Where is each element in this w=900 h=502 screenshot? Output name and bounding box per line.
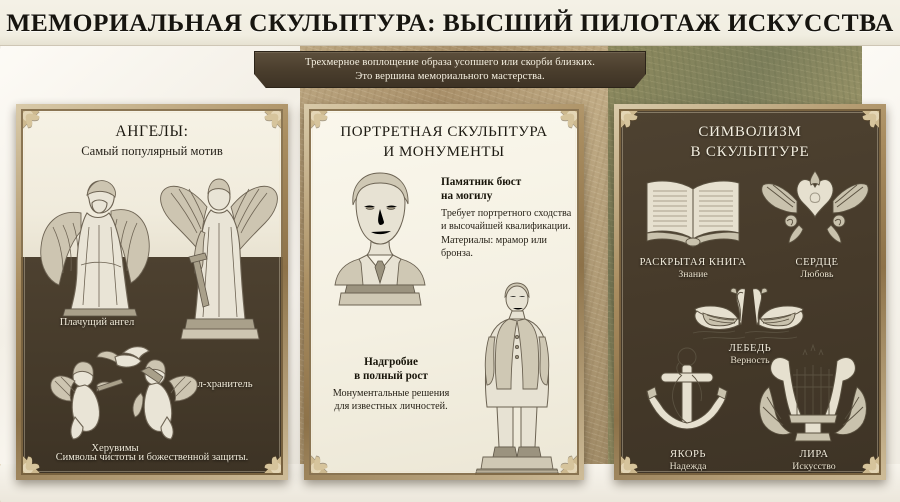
panel-symbolism-title-line-2: В СКУЛЬПТУРЕ (619, 143, 881, 161)
panel-portrait-content: ПОРТРЕТНАЯ СКУЛЬПТУРА И МОНУМЕНТЫ (309, 109, 579, 475)
open-book-icon (639, 175, 747, 249)
full-height-heading-line-1: Надгробие (321, 355, 461, 369)
symbol-label-lyre: ЛИРА Искусство (759, 449, 869, 472)
symbol-meaning-book: Знание (631, 269, 755, 280)
bust-heading-line-2: на могилу (441, 189, 573, 203)
symbol-label-book: РАСКРЫТАЯ КНИГА Знание (631, 257, 755, 280)
symbol-label-heart: СЕРДЦЕ Любовь (755, 257, 879, 280)
panel-angels-content: АНГЕЛЫ: Самый популярный мотив (21, 109, 283, 475)
panel-symbolism-title: СИМВОЛИЗМ В СКУЛЬПТУРЕ (619, 123, 881, 162)
full-height-description-line-2: для известных личностей. (321, 400, 461, 413)
bust-statue-icon (323, 167, 435, 307)
symbol-meaning-heart: Любовь (755, 269, 879, 280)
caption-weeping-angel: Плачущий ангел (35, 317, 159, 328)
panel-portrait-sculpture: ПОРТРЕТНАЯ СКУЛЬПТУРА И МОНУМЕНТЫ (304, 104, 584, 480)
lyre-icon (755, 341, 871, 443)
swans-icon (689, 283, 809, 347)
panel-portrait-title-line-1: ПОРТРЕТНАЯ СКУЛЬПТУРА (309, 123, 579, 141)
panel-angels: АНГЕЛЫ: Самый популярный мотив (16, 104, 288, 480)
panel-angels-footer: Символы чистоты и божественной защиты. (21, 452, 283, 463)
subtitle-ribbon: Трехмерное воплощение образа усопшего ил… (254, 51, 646, 88)
guardian-angel-statue-icon (157, 165, 281, 341)
winged-heart-icon (759, 169, 871, 251)
symbol-meaning-anchor: Надежда (633, 461, 743, 472)
subtitle-line-1: Трехмерное воплощение образа усопшего ил… (305, 56, 595, 70)
panel-portrait-title: ПОРТРЕТНАЯ СКУЛЬПТУРА И МОНУМЕНТЫ (309, 123, 579, 162)
cherubs-icon (45, 335, 211, 443)
symbol-label-anchor: ЯКОРЬ Надежда (633, 449, 743, 472)
bust-description: Требует портретного сходства и высочайше… (441, 207, 573, 261)
page-title: МЕМОРИАЛЬНАЯ СКУЛЬПТУРА: ВЫСШИЙ ПИЛОТАЖ … (6, 8, 893, 38)
symbol-meaning-lyre: Искусство (759, 461, 869, 472)
panel-angels-title: АНГЕЛЫ: Самый популярный мотив (21, 123, 283, 159)
panel-symbolism-content: СИМВОЛИЗМ В СКУЛЬПТУРЕ (619, 109, 881, 475)
symbol-name-lyre: ЛИРА (759, 449, 869, 460)
full-height-text-block: Надгробие в полный рост Монументальные р… (321, 355, 461, 414)
panel-angels-title-sub: Самый популярный мотив (21, 144, 283, 159)
subtitle-line-2: Это вершина мемориального мастерства. (355, 70, 544, 84)
panel-portrait-title-line-2: И МОНУМЕНТЫ (309, 143, 579, 161)
panel-symbolism-title-line-1: СИМВОЛИЗМ (619, 123, 881, 141)
full-height-description-line-1: Монументальные решения (321, 387, 461, 400)
symbol-name-anchor: ЯКОРЬ (633, 449, 743, 460)
full-height-statue-icon (465, 281, 569, 477)
poster-canvas: МЕМОРИАЛЬНАЯ СКУЛЬПТУРА: ВЫСШИЙ ПИЛОТАЖ … (0, 0, 900, 502)
symbol-name-book: РАСКРЫТАЯ КНИГА (631, 257, 755, 268)
panel-symbolism: СИМВОЛИЗМ В СКУЛЬПТУРЕ (614, 104, 886, 480)
panel-angels-title-main: АНГЕЛЫ: (21, 123, 283, 142)
full-height-heading-line-2: в полный рост (321, 369, 461, 383)
anchor-icon (641, 345, 733, 443)
weeping-angel-statue-icon (37, 169, 157, 317)
header-band: МЕМОРИАЛЬНАЯ СКУЛЬПТУРА: ВЫСШИЙ ПИЛОТАЖ … (0, 0, 900, 46)
bust-text-block: Памятник бюст на могилу Требует портретн… (441, 175, 573, 260)
bust-heading-line-1: Памятник бюст (441, 175, 573, 189)
symbol-name-heart: СЕРДЦЕ (755, 257, 879, 268)
